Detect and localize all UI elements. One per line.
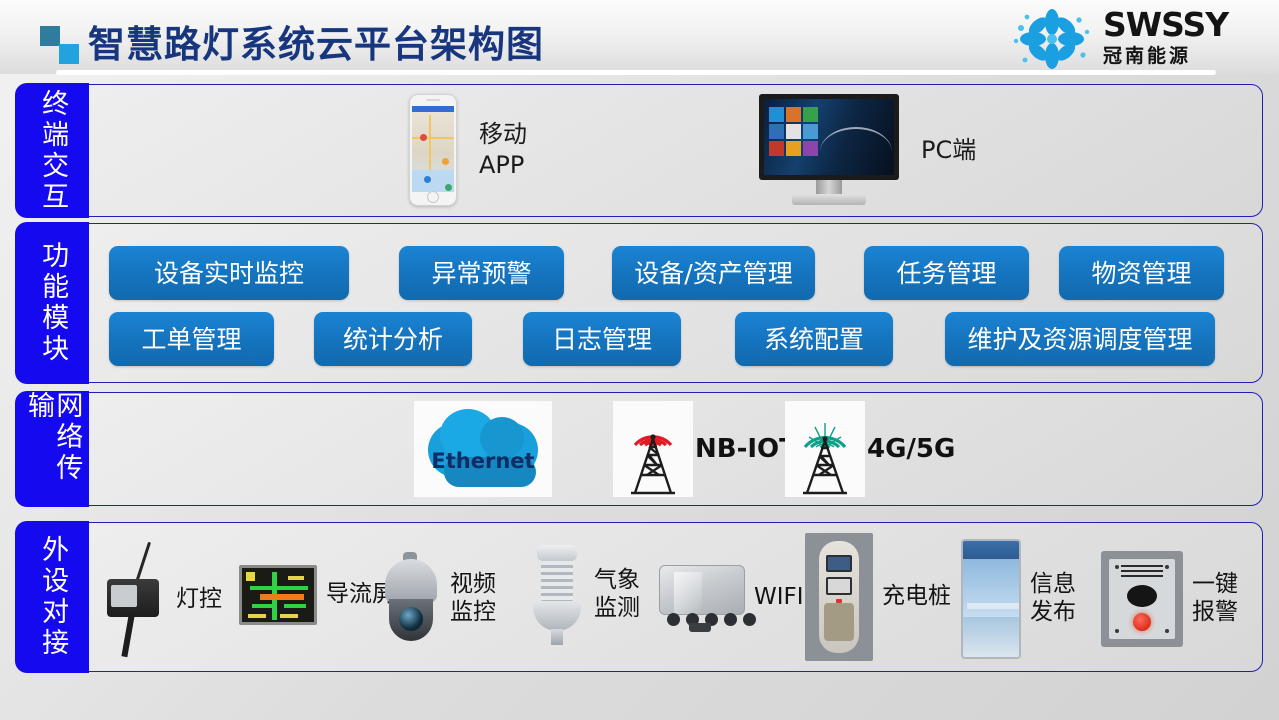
logo-subtitle: 冠南能源	[1103, 47, 1228, 66]
peripheral-item-guidance-screen[interactable]: 导流屏	[239, 565, 395, 625]
peripheral-item-charging-pile[interactable]: 充电桩	[805, 533, 951, 661]
peripheral-label-charging-pile: 充电桩	[882, 583, 951, 611]
terminal-label-pc: PC端	[921, 135, 976, 166]
layer-panel-function: 功能模块 设备实时监控 异常预警 设备/资产管理 任务管理 物资管理 工单管理 …	[16, 223, 1263, 383]
radio-tower-red-icon	[613, 401, 693, 497]
emergency-call-icon	[1101, 551, 1183, 647]
weather-sensor-icon	[529, 543, 585, 647]
peripheral-label-video-camera: 视频 监控	[450, 571, 496, 626]
network-label-nbiot: NB-IOT	[695, 434, 797, 464]
layer-tab-label: 功能模块	[38, 241, 66, 365]
info-display-icon	[961, 539, 1021, 659]
smartphone-map-icon	[409, 94, 457, 206]
company-logo: SWSSY 冠南能源	[1007, 4, 1267, 74]
radio-tower-teal-icon	[785, 401, 865, 497]
layer-tab-terminal: 终端交互	[15, 83, 89, 218]
peripheral-item-wifi[interactable]: WIFI	[659, 563, 804, 633]
function-button-device-monitor[interactable]: 设备实时监控	[109, 246, 349, 300]
layer-body-peripheral: 灯控 导流屏 视频 监控	[91, 523, 1262, 671]
layer-body-network: Ethernet	[91, 393, 1262, 505]
peripheral-label-weather-sensor: 气象 监测	[594, 567, 640, 622]
network-label-4g5g: 4G/5G	[867, 434, 955, 464]
function-button-abnormal-alert[interactable]: 异常预警	[399, 246, 564, 300]
desktop-monitor-icon	[759, 94, 899, 206]
function-button-asset-management[interactable]: 设备/资产管理	[612, 246, 815, 300]
terminal-item-pc[interactable]: PC端	[759, 94, 976, 206]
layer-tab-label: 外设对接	[38, 535, 66, 659]
peripheral-item-lamp-controller[interactable]: 灯控	[105, 541, 222, 659]
layer-panel-network: 网络传输 Ethernet	[16, 392, 1263, 506]
layer-tab-label: 终端交互	[38, 89, 66, 213]
layer-body-function: 设备实时监控 异常预警 设备/资产管理 任务管理 物资管理 工单管理 统计分析 …	[91, 224, 1262, 382]
layer-tab-label: 网络传输	[24, 391, 81, 507]
guidance-screen-icon	[239, 565, 317, 625]
layer-tab-peripheral: 外设对接	[15, 521, 89, 673]
peripheral-label-wifi: WIFI	[754, 584, 804, 612]
peripheral-label-emergency-call: 一键 报警	[1192, 571, 1238, 626]
function-button-system-config[interactable]: 系统配置	[735, 312, 893, 366]
function-button-log-management[interactable]: 日志管理	[523, 312, 681, 366]
network-label-ethernet: Ethernet	[414, 449, 552, 473]
layer-panel-terminal: 终端交互 移动 APP	[16, 84, 1263, 217]
function-button-task-management[interactable]: 任务管理	[864, 246, 1029, 300]
page-header: 智慧路灯系统云平台架构图	[0, 0, 1279, 74]
function-button-workorder-management[interactable]: 工单管理	[109, 312, 274, 366]
network-item-ethernet[interactable]: Ethernet	[414, 401, 552, 497]
peripheral-item-info-display[interactable]: 信息 发布	[961, 539, 1076, 659]
charging-pile-icon	[805, 533, 873, 661]
layer-panel-peripheral: 外设对接 灯控 导流屏	[16, 522, 1263, 672]
peripheral-item-video-camera[interactable]: 视频 监控	[381, 551, 496, 647]
function-row-1: 设备实时监控 异常预警 设备/资产管理 任务管理 物资管理	[109, 246, 1248, 300]
terminal-label-mobile-app: 移动 APP	[479, 119, 527, 180]
layer-body-terminal: 移动 APP PC端	[91, 85, 1262, 216]
function-button-material-management[interactable]: 物资管理	[1059, 246, 1224, 300]
function-row-2: 工单管理 统计分析 日志管理 系统配置 维护及资源调度管理	[109, 312, 1248, 366]
peripheral-label-info-display: 信息 发布	[1030, 571, 1076, 626]
wifi-ap-icon	[659, 563, 745, 633]
header-underline	[56, 70, 1216, 75]
two-squares-icon	[40, 26, 82, 62]
ptz-camera-icon	[381, 551, 441, 647]
cloud-icon: Ethernet	[414, 401, 552, 497]
logo-wordmark: SWSSY	[1103, 8, 1228, 41]
layer-tab-function: 功能模块	[15, 222, 89, 384]
page-title: 智慧路灯系统云平台架构图	[88, 14, 544, 68]
peripheral-label-lamp-controller: 灯控	[176, 586, 222, 614]
function-button-maintenance-dispatch[interactable]: 维护及资源调度管理	[945, 312, 1215, 366]
lamp-controller-icon	[105, 541, 167, 659]
terminal-item-mobile-app[interactable]: 移动 APP	[409, 94, 527, 206]
peripheral-item-weather-sensor[interactable]: 气象 监测	[529, 543, 640, 647]
network-item-nbiot[interactable]: NB-IOT	[613, 401, 797, 497]
network-item-4g5g[interactable]: 4G/5G	[785, 401, 955, 497]
water-droplet-flower-logo	[1007, 8, 1097, 70]
peripheral-item-emergency-call[interactable]: 一键 报警	[1101, 551, 1238, 647]
layer-tab-network: 网络传输	[15, 391, 89, 507]
function-button-statistics[interactable]: 统计分析	[314, 312, 472, 366]
